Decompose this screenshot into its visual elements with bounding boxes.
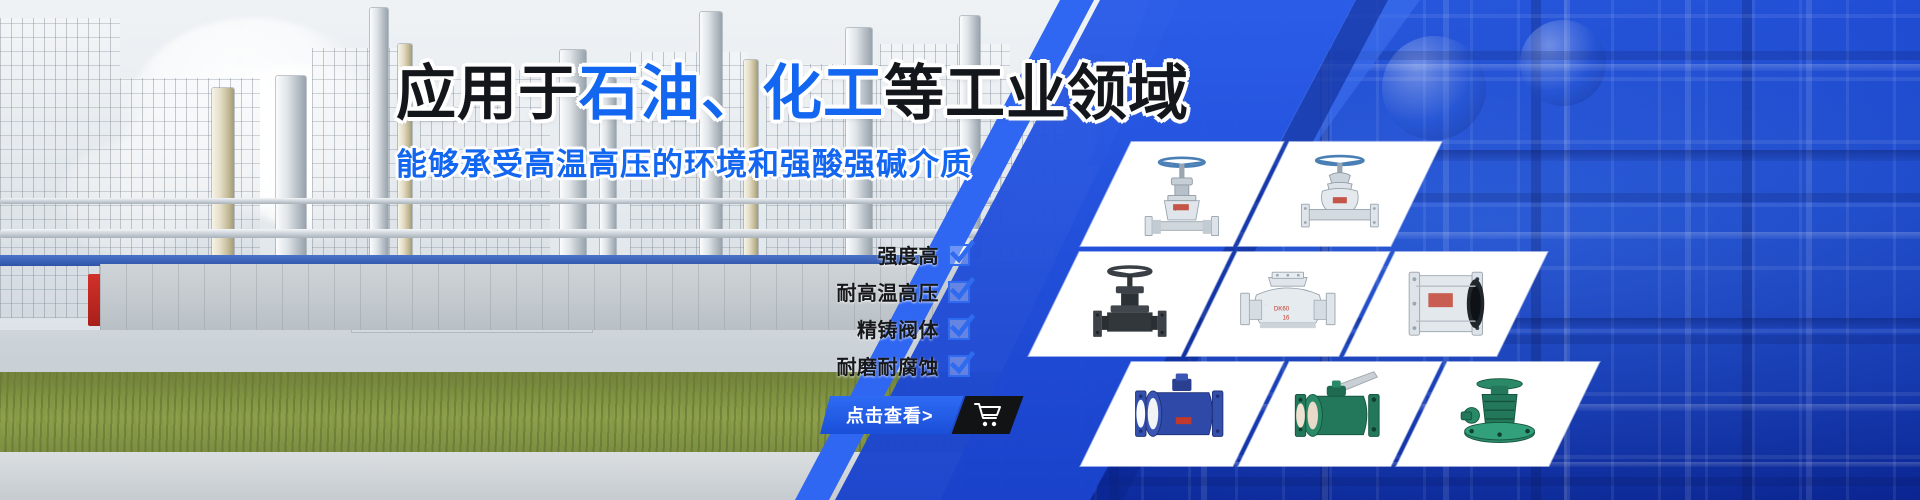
feature-label: 耐磨耐腐蚀 [837, 351, 940, 380]
checkbox-checked-icon [948, 281, 970, 303]
page-subtitle: 能够承受高温高压的环境和强酸强碱介质 [396, 139, 1096, 184]
checkbox-checked-icon [948, 318, 970, 340]
check-valve-size-mark: DK60 [1274, 306, 1290, 313]
feature-label: 强度高 [878, 240, 940, 269]
svg-text:.: . [1265, 302, 1266, 308]
check-valve-rating-mark: 16 [1283, 315, 1290, 322]
product-grid: . [1096, 142, 1616, 472]
feature-label: 精铸阀体 [857, 314, 939, 343]
headline-block: 应用于石油、化工等工业领域 能够承受高温高压的环境和强酸强碱介质 [396, 62, 1096, 184]
feature-item: 耐磨耐腐蚀 [837, 351, 971, 380]
feature-checklist: 强度高 耐高温高压 精铸阀体 耐磨耐腐蚀 [640, 240, 970, 380]
page-title: 应用于石油、化工等工业领域 [396, 62, 1096, 126]
checkbox-checked-icon [948, 244, 970, 266]
cta-button[interactable]: 点击查看> [820, 396, 1024, 434]
feature-item: 耐高温高压 [837, 277, 971, 306]
cta-label[interactable]: 点击查看> [820, 396, 964, 434]
shopping-cart-icon[interactable] [952, 396, 1024, 434]
headline-highlight: 石油、化工 [579, 60, 884, 127]
feature-item: 强度高 [878, 240, 971, 269]
feature-label: 耐高温高压 [837, 277, 940, 306]
checkbox-checked-icon [948, 355, 970, 377]
feature-item: 精铸阀体 [857, 314, 970, 343]
promo-banner: 应用于石油、化工等工业领域 能够承受高温高压的环境和强酸强碱介质 强度高 耐高温… [0, 0, 1920, 500]
headline-part-2: 等工业领域 [884, 60, 1189, 127]
headline-part-1: 应用于 [396, 60, 579, 127]
